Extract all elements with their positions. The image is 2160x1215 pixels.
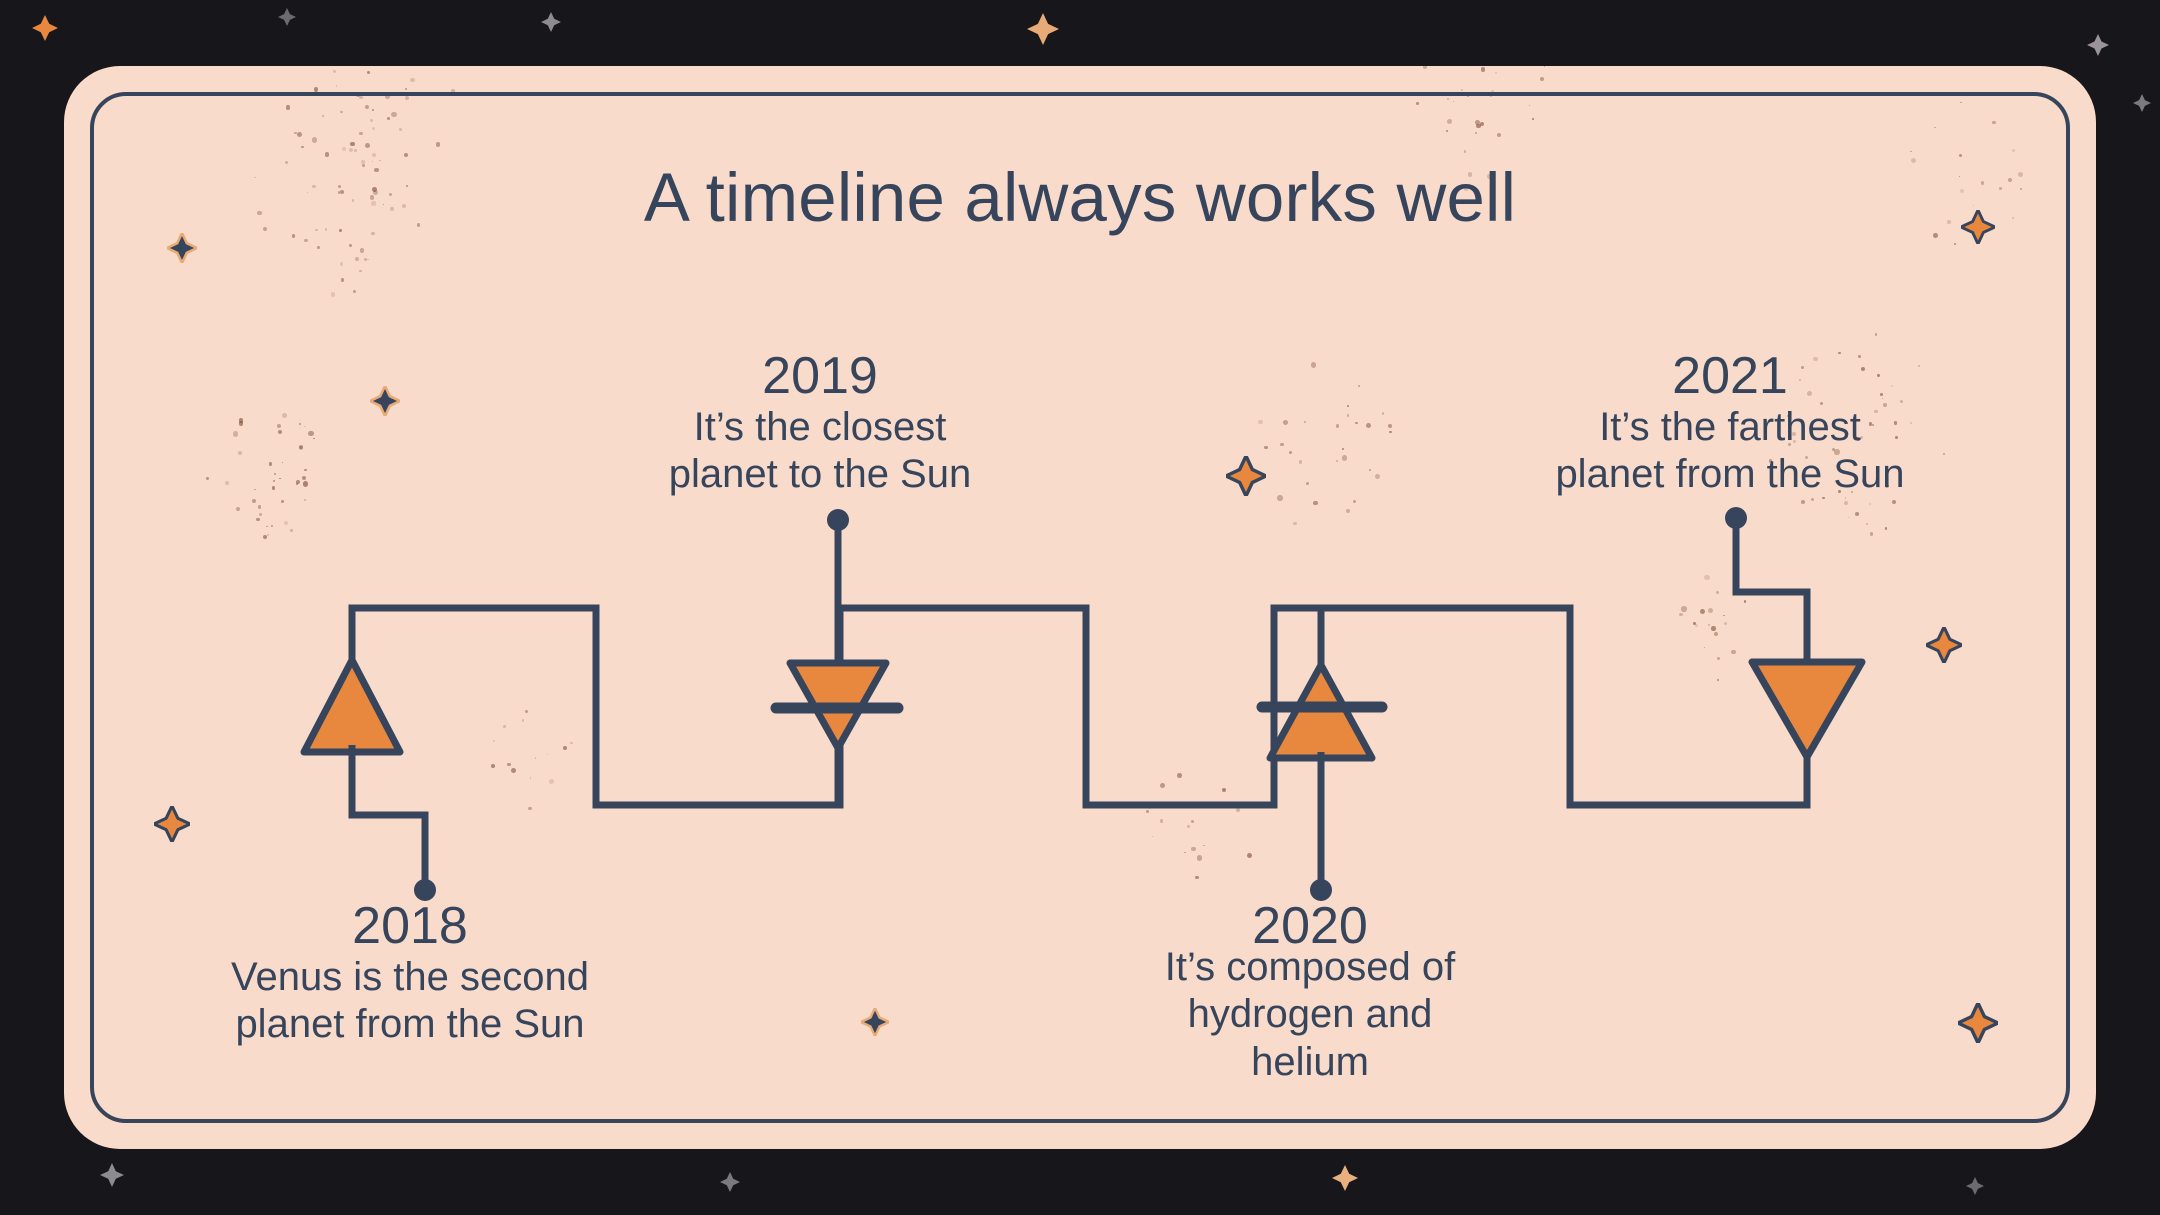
texture-speck [296, 480, 300, 484]
texture-speck [252, 499, 256, 503]
texture-speck [299, 446, 303, 450]
four-point-star-icon [2087, 34, 2109, 61]
texture-speck [1529, 105, 1530, 106]
texture-speck [1464, 150, 1467, 153]
texture-speck [1289, 451, 1292, 454]
texture-speck [367, 259, 369, 261]
texture-speck [535, 757, 537, 759]
texture-speck [1222, 788, 1226, 792]
page-title: A timeline always works well [0, 160, 2160, 236]
texture-speck [1264, 446, 1267, 449]
event-description-2021: It’s the farthest planet from the Sun [1530, 404, 1930, 498]
texture-speck [1382, 412, 1385, 415]
texture-speck [1960, 102, 1961, 103]
event-description-2020: It’s composed of hydrogen and helium [1140, 944, 1480, 1086]
four-point-star-icon [278, 8, 296, 31]
texture-speck [1481, 67, 1486, 72]
four-point-star-icon [154, 806, 190, 847]
texture-speck [325, 152, 330, 157]
texture-speck [1866, 523, 1869, 526]
texture-speck [1388, 424, 1393, 429]
texture-speck [1711, 626, 1715, 630]
texture-speck [355, 257, 359, 261]
texture-speck [1342, 448, 1344, 450]
texture-speck [1708, 624, 1710, 626]
event-year-2018: 2018 [180, 898, 640, 954]
texture-speck [294, 132, 296, 134]
texture-speck [1497, 133, 1501, 137]
texture-speck [364, 258, 367, 261]
texture-speck [511, 768, 517, 774]
texture-speck [1160, 819, 1164, 823]
texture-speck [1423, 66, 1427, 69]
texture-speck [507, 763, 511, 767]
event-desc-line: It’s composed of [1140, 944, 1480, 991]
texture-speck [1355, 422, 1358, 425]
texture-speck [259, 513, 262, 516]
texture-speck [359, 270, 361, 272]
event-year-2019: 2019 [640, 348, 1000, 404]
texture-speck [273, 480, 275, 482]
texture-speck [1177, 773, 1182, 778]
texture-speck [225, 481, 229, 485]
texture-speck [503, 725, 507, 729]
texture-speck [282, 462, 284, 464]
texture-speck [365, 105, 370, 110]
texture-speck [391, 112, 396, 117]
texture-speck [570, 742, 573, 745]
texture-speck [1467, 95, 1469, 97]
texture-speck [296, 483, 298, 485]
texture-speck [1191, 820, 1194, 823]
event-desc-line: hydrogen and [1140, 991, 1480, 1038]
texture-speck [269, 462, 273, 466]
texture-speck [1959, 154, 1962, 157]
texture-speck [301, 146, 304, 149]
texture-speck [1347, 414, 1349, 416]
texture-speck [1693, 622, 1696, 625]
texture-speck [272, 486, 275, 489]
four-point-star-icon [1332, 1165, 1358, 1196]
event-desc-line: It’s the closest [640, 404, 1000, 451]
texture-speck [313, 438, 314, 439]
texture-speck [1892, 500, 1896, 504]
texture-speck [1532, 118, 1534, 120]
texture-speck [239, 421, 244, 426]
texture-speck [1704, 575, 1709, 580]
texture-speck [1704, 647, 1705, 648]
event-year-2021: 2021 [1530, 348, 1930, 404]
texture-speck [340, 262, 343, 265]
event-desc-line: It’s the farthest [1530, 404, 1930, 451]
four-point-star-icon [861, 1008, 889, 1041]
event-desc-line: planet from the Sun [1530, 451, 1930, 498]
texture-speck [1446, 130, 1448, 132]
texture-speck [1195, 876, 1199, 880]
texture-speck [365, 143, 370, 148]
texture-speck [528, 807, 532, 811]
texture-speck [1490, 94, 1493, 97]
texture-speck [1311, 362, 1316, 367]
texture-speck [304, 499, 306, 501]
texture-speck [274, 473, 276, 475]
texture-speck [1447, 98, 1449, 100]
texture-speck [1714, 632, 1718, 636]
texture-speck [1447, 119, 1452, 124]
texture-speck [1299, 460, 1303, 464]
texture-speck [1544, 66, 1546, 67]
event-desc-line: helium [1140, 1039, 1480, 1086]
texture-speck [206, 477, 209, 480]
texture-speck [1191, 847, 1195, 851]
texture-speck [1695, 624, 1698, 627]
texture-speck [277, 424, 281, 428]
texture-speck [282, 413, 287, 418]
texture-speck [372, 127, 376, 131]
texture-speck [312, 137, 317, 142]
four-point-star-icon [1226, 456, 1266, 501]
texture-speck [1258, 420, 1262, 424]
texture-speck [356, 93, 360, 97]
texture-speck [322, 115, 324, 117]
texture-speck [342, 147, 347, 152]
texture-speck [530, 777, 532, 779]
texture-speck [1342, 455, 1347, 460]
texture-speck [308, 431, 313, 436]
texture-speck [1347, 405, 1349, 407]
texture-speck [385, 94, 390, 99]
texture-speck [1934, 127, 1936, 129]
texture-speck [1366, 423, 1371, 428]
texture-speck [1954, 243, 1956, 245]
texture-speck [1875, 333, 1878, 336]
texture-speck [271, 525, 273, 527]
texture-speck [340, 110, 342, 112]
texture-speck [1280, 443, 1284, 447]
texture-speck [1475, 120, 1480, 125]
texture-speck [1283, 420, 1288, 425]
four-point-star-icon [541, 12, 561, 37]
texture-speck [304, 239, 308, 243]
texture-speck [1203, 845, 1205, 847]
texture-speck [297, 132, 302, 137]
four-point-star-icon [1966, 1177, 1984, 1200]
texture-speck [1679, 613, 1682, 616]
texture-speck [333, 70, 336, 73]
texture-speck [491, 764, 495, 768]
timeline-event-2018: 2018 Venus is the second planet from the… [180, 898, 640, 1049]
texture-speck [1910, 151, 1912, 153]
texture-speck [1369, 469, 1371, 471]
texture-speck [267, 534, 269, 536]
texture-speck [263, 535, 267, 539]
four-point-star-icon [1926, 627, 1962, 668]
four-point-star-icon [720, 1172, 740, 1197]
texture-speck [1731, 650, 1736, 655]
texture-speck [1236, 808, 1240, 812]
texture-speck [1160, 783, 1165, 788]
texture-speck [399, 128, 402, 131]
texture-speck [436, 142, 441, 147]
four-point-star-icon [2133, 94, 2151, 117]
texture-speck [236, 507, 240, 511]
texture-speck [404, 153, 408, 157]
texture-speck [1681, 606, 1687, 612]
texture-speck [1716, 591, 1719, 594]
texture-speck [1389, 431, 1392, 434]
texture-speck [1416, 102, 1418, 104]
texture-speck [451, 89, 456, 94]
texture-speck [1700, 609, 1705, 614]
texture-speck [233, 431, 238, 436]
texture-speck [2012, 149, 2015, 152]
four-point-star-icon [100, 1163, 124, 1192]
texture-speck [1844, 501, 1848, 505]
texture-speck [1293, 522, 1296, 525]
texture-speck [522, 719, 524, 721]
texture-speck [387, 117, 390, 120]
texture-speck [1147, 804, 1152, 809]
texture-speck [349, 93, 352, 96]
texture-speck [405, 96, 409, 100]
texture-speck [1152, 836, 1153, 837]
texture-speck [1708, 608, 1714, 614]
texture-speck [1304, 421, 1306, 423]
four-point-star-icon [32, 15, 58, 46]
texture-speck [349, 148, 353, 152]
texture-speck [238, 451, 242, 455]
timeline-event-2021: 2021 It’s the farthest planet from the S… [1530, 348, 1930, 499]
texture-speck [290, 529, 293, 532]
texture-speck [286, 105, 291, 110]
texture-speck [1247, 853, 1252, 858]
texture-speck [302, 476, 306, 480]
texture-speck [1480, 122, 1484, 126]
texture-speck [1475, 132, 1478, 135]
texture-speck [1353, 500, 1356, 503]
texture-speck [239, 418, 244, 423]
texture-speck [359, 132, 363, 136]
texture-speck [304, 469, 307, 472]
texture-speck [1870, 532, 1873, 535]
texture-speck [1453, 101, 1454, 102]
texture-speck [299, 423, 301, 425]
four-point-star-icon [1027, 13, 1059, 50]
texture-speck [563, 746, 567, 750]
texture-speck [549, 779, 554, 784]
event-description-2018: Venus is the second planet from the Sun [180, 954, 640, 1048]
texture-speck [278, 430, 282, 434]
texture-speck [1358, 385, 1360, 387]
texture-speck [1277, 495, 1283, 501]
texture-speck [279, 478, 280, 479]
four-point-star-icon [1958, 1003, 1998, 1048]
texture-speck [1476, 124, 1481, 129]
texture-speck [1724, 622, 1727, 625]
texture-speck [1723, 615, 1724, 616]
texture-speck [1855, 512, 1859, 516]
texture-speck [299, 445, 304, 450]
texture-speck [304, 426, 306, 428]
texture-speck [1744, 600, 1747, 603]
texture-speck [350, 142, 354, 146]
texture-speck [493, 740, 495, 742]
texture-speck [1495, 72, 1497, 74]
texture-speck [266, 526, 268, 528]
texture-speck [340, 111, 343, 114]
texture-speck [1848, 517, 1850, 519]
event-desc-line: planet from the Sun [180, 1001, 640, 1048]
texture-speck [1336, 424, 1340, 428]
texture-speck [1869, 503, 1871, 505]
texture-speck [331, 292, 335, 296]
texture-speck [1885, 527, 1888, 530]
texture-speck [254, 489, 256, 491]
texture-speck [1992, 121, 1996, 125]
texture-speck [281, 500, 284, 503]
texture-speck [1197, 855, 1202, 860]
texture-speck [314, 87, 319, 92]
texture-speck [1146, 810, 1149, 813]
texture-speck [1801, 500, 1805, 504]
texture-speck [372, 153, 376, 157]
texture-speck [1306, 482, 1309, 485]
four-point-star-icon [167, 233, 197, 268]
texture-speck [258, 505, 262, 509]
texture-speck [1717, 679, 1719, 681]
texture-speck [354, 149, 357, 152]
texture-speck [1313, 501, 1318, 506]
texture-speck [1346, 509, 1350, 513]
texture-speck [284, 521, 288, 525]
texture-speck [370, 119, 373, 122]
texture-speck [336, 85, 338, 87]
texture-speck [1187, 825, 1190, 828]
texture-speck [525, 710, 528, 713]
slide-canvas: A timeline always works well [0, 0, 2160, 1215]
texture-speck [1491, 90, 1494, 93]
texture-speck [1943, 453, 1945, 455]
timeline-event-2019: 2019 It’s the closest planet to the Sun [640, 348, 1000, 499]
texture-speck [341, 278, 345, 282]
texture-speck [410, 78, 414, 82]
event-desc-line: planet to the Sun [640, 451, 1000, 498]
texture-speck [349, 244, 352, 247]
texture-speck [353, 290, 356, 293]
texture-speck [359, 96, 363, 100]
texture-speck [547, 754, 549, 756]
texture-speck [1540, 77, 1544, 81]
texture-speck [256, 518, 260, 522]
texture-speck [1375, 474, 1380, 479]
texture-speck [372, 109, 374, 111]
texture-speck [1336, 460, 1338, 462]
timeline-event-2020: 2020 It’s composed of hydrogen and heliu… [1140, 898, 1480, 1086]
event-description-2019: It’s the closest planet to the Sun [640, 404, 1000, 498]
four-point-star-icon [370, 386, 400, 421]
texture-speck [1461, 89, 1463, 91]
texture-speck [1717, 657, 1720, 660]
texture-speck [1184, 852, 1186, 854]
event-desc-line: Venus is the second [180, 954, 640, 1001]
texture-speck [367, 71, 370, 74]
texture-speck [303, 481, 308, 486]
texture-speck [360, 248, 364, 252]
texture-speck [405, 88, 407, 90]
texture-speck [317, 246, 320, 249]
